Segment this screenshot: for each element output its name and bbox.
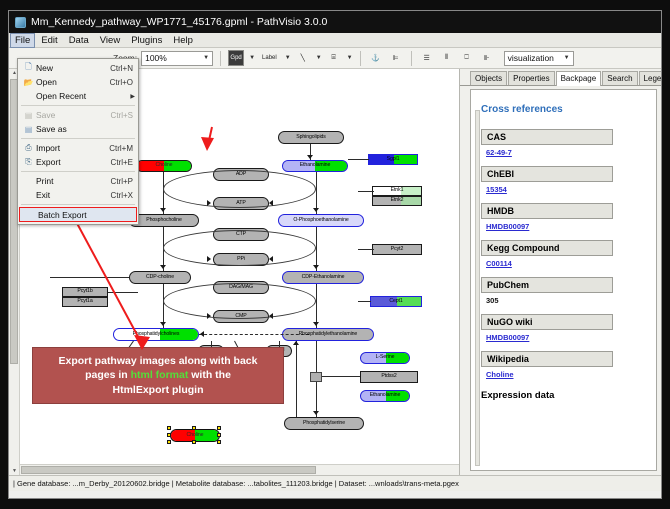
label-dropdown-icon[interactable]: ▼ — [285, 55, 291, 61]
expression-data-title: Expression data — [481, 390, 646, 401]
chevron-down-icon: ▼ — [203, 55, 209, 61]
export-icon: ⎘ — [21, 157, 36, 167]
selection-handle[interactable] — [192, 426, 196, 430]
arrow-head — [307, 155, 313, 159]
menu-item-label: Save — [36, 110, 111, 120]
edge-connector — [108, 292, 138, 293]
selection-handle[interactable] — [192, 440, 196, 444]
node-label: ATP — [236, 201, 245, 206]
menu-item-label: Open Recent — [36, 91, 130, 101]
visualization-combobox[interactable]: visualization ▼ — [504, 51, 574, 66]
arrow-head — [269, 313, 273, 319]
xref-link-wikipedia[interactable]: Choline — [486, 370, 514, 379]
xref-header-wikipedia: Wikipedia — [481, 351, 613, 367]
xref-link-chebi[interactable]: 15354 — [486, 185, 507, 194]
stack-icon[interactable]: ⎕ — [459, 50, 475, 66]
xref-value-kegg-compound: C00114 — [481, 259, 646, 277]
tab-properties[interactable]: Properties — [508, 71, 554, 85]
xref-link-nugo-wiki[interactable]: HMDB00097 — [486, 333, 529, 342]
arrow-head — [200, 331, 204, 337]
node-phosphocholine[interactable]: Phosphocholine — [129, 214, 199, 227]
selection-handle[interactable] — [167, 440, 171, 444]
menu-item-label: Save as — [36, 124, 133, 134]
selection-handle[interactable] — [217, 433, 221, 437]
menu-help[interactable]: Help — [168, 33, 198, 48]
xref-value-pubchem: 305 — [481, 296, 646, 314]
save-disk-icon: ▤ — [21, 111, 36, 120]
menu-item-label: Open — [36, 77, 110, 87]
reaction-anchor — [310, 372, 322, 382]
node-label: Phosphocholine — [146, 218, 182, 223]
arrow-head — [269, 200, 273, 206]
annotation-line-1: Export pathway images along with back — [59, 355, 258, 367]
edge-connector — [358, 249, 374, 250]
status-bar-text: | Gene database: ...m_Derby_20120602.bri… — [13, 479, 459, 488]
menu-view[interactable]: View — [95, 33, 125, 48]
node-label: Pcyt2 — [391, 247, 403, 252]
save-as-icon: ▤ — [21, 125, 36, 134]
side-panel-tabs: Objects Properties Backpage Search Legen… — [460, 69, 661, 86]
menu-item-label: Export — [36, 157, 111, 167]
arrow-head — [313, 265, 319, 269]
edge-connector — [358, 301, 372, 302]
node-label: Choline — [187, 433, 204, 438]
node-ptdss2[interactable]: Ptdss2 — [360, 371, 418, 383]
shape-dropdown-icon[interactable]: ▼ — [347, 55, 353, 61]
pathvisio-icon — [15, 17, 26, 28]
xref-link-kegg-compound[interactable]: C00114 — [486, 259, 512, 268]
menu-item-label: New — [36, 63, 110, 73]
menu-divider-2 — [21, 138, 135, 139]
menu-item-accel: Ctrl+X — [111, 191, 135, 200]
node-label: Ethanolamine — [370, 393, 401, 398]
annotation-line-2a: pages in — [85, 369, 131, 381]
selection-handle[interactable] — [167, 433, 171, 437]
edge-connector — [50, 277, 129, 278]
visualization-value: visualization — [508, 53, 554, 63]
submenu-arrow-icon: ▶ — [130, 93, 135, 100]
node-cept1[interactable]: Cept1 — [370, 296, 422, 307]
hscroll-thumb[interactable] — [21, 466, 316, 474]
chevron-down-icon-2: ▼ — [564, 55, 570, 61]
annotation-highlight: html format — [131, 369, 189, 381]
menu-item-new[interactable]: 🗋 New Ctrl+N — [18, 61, 138, 75]
title-bar: Mm_Kennedy_pathway_WP1771_45176.gpml - P… — [9, 11, 661, 33]
toolbar-divider — [220, 51, 221, 66]
side-panel: Objects Properties Backpage Search Legen… — [460, 69, 661, 475]
toolbar-divider-3 — [411, 51, 412, 66]
node-label: ADP — [236, 172, 246, 177]
node-label: Pcyt1b — [77, 289, 92, 294]
annotation-line-3: HtmlExport plugin — [113, 384, 204, 396]
node-label: L-Serine — [376, 355, 395, 360]
menu-plugins[interactable]: Plugins — [126, 33, 167, 48]
menu-item-label: Import — [36, 143, 109, 153]
window-title: Mm_Kennedy_pathway_WP1771_45176.gpml - P… — [31, 16, 327, 28]
menu-item-import[interactable]: ⎙ Import Ctrl+M — [18, 141, 138, 155]
node-label: Sphingolipids — [296, 135, 326, 140]
xref-header-nugo-wiki: NuGO wiki — [481, 314, 613, 330]
node-pcyt1a[interactable]: Pcyt1a — [62, 297, 108, 307]
xref-value-chebi: 15354 — [481, 185, 646, 203]
xref-link-hmdb[interactable]: HMDB00097 — [486, 222, 529, 231]
node-label: Ethanolamine — [300, 163, 331, 168]
selection-handle[interactable] — [217, 426, 221, 430]
menu-item-open[interactable]: 📂 Open Ctrl+O — [18, 75, 138, 89]
arrow-head — [160, 322, 166, 326]
node-pcyt1b[interactable]: Pcyt1b — [62, 287, 108, 297]
node-label: Phosphatidylserine — [303, 421, 345, 426]
menu-item-save-as[interactable]: ▤ Save as — [18, 122, 138, 136]
node-sgpl1[interactable]: Sgpl1 — [368, 154, 418, 165]
shape-tool-icon[interactable]: ⌸ — [326, 50, 342, 66]
node-l-serine[interactable]: L-Serine — [360, 352, 410, 364]
node-label: Etnk2 — [391, 198, 404, 203]
menu-item-batch-export[interactable]: Batch Export — [19, 207, 137, 222]
xref-value-wikipedia: Choline — [481, 370, 646, 388]
toolbar-divider-2 — [360, 51, 361, 66]
import-icon: ⎙ — [21, 143, 36, 153]
annotation-callout: Export pathway images along with back pa… — [32, 347, 284, 404]
menu-item-accel: Ctrl+S — [111, 111, 135, 120]
menu-item-exit[interactable]: Exit Ctrl+X — [18, 188, 138, 202]
node-label: Phosphatidylcholines — [133, 332, 180, 337]
node-label: CDP-Ethanolamine — [302, 275, 345, 280]
menu-item-label: Exit — [36, 190, 111, 200]
pathvisio-window: Mm_Kennedy_pathway_WP1771_45176.gpml - P… — [8, 10, 662, 499]
node-label: Pcyt1a — [77, 299, 92, 304]
align-top-icon[interactable]: ☰ — [419, 50, 435, 66]
edge-connector — [296, 341, 297, 417]
node-choline[interactable]: Choline — [136, 160, 192, 172]
menu-bar: File Edit Data View Plugins Help — [9, 33, 661, 48]
node-label: O-Phosphoethanolamine — [293, 218, 348, 223]
node-ethanolamine[interactable]: Ethanolamine — [282, 160, 348, 172]
arrow-head — [160, 265, 166, 269]
node-label: Phosphatidylethanolamine — [299, 332, 357, 337]
edge-connector — [320, 376, 360, 377]
arrow-head — [313, 411, 319, 415]
cross-references-title: Cross references — [481, 104, 646, 115]
node-phosphatidylserine[interactable]: Phosphatidylserine — [284, 417, 364, 430]
group-tool-icon[interactable]: ⊫ — [388, 50, 404, 66]
xref-value-hmdb: HMDB00097 — [481, 222, 646, 240]
xref-header-pubchem: PubChem — [481, 277, 613, 293]
xref-value-nugo-wiki: HMDB00097 — [481, 333, 646, 351]
anchor-tool-icon[interactable]: ⚓ — [368, 50, 384, 66]
menu-item-accel: Ctrl+N — [110, 64, 135, 73]
menu-item-label: Print — [36, 176, 111, 186]
arrow-head — [313, 208, 319, 212]
align-columns-icon[interactable]: ⫴ — [439, 50, 455, 66]
selection-handle[interactable] — [217, 440, 221, 444]
node-sphingolipids[interactable]: Sphingolipids — [278, 131, 344, 144]
menu-data[interactable]: Data — [64, 33, 94, 48]
node-label: PPi — [237, 257, 245, 262]
line-dropdown-icon[interactable]: ▼ — [316, 55, 322, 61]
xref-header-chebi: ChEBI — [481, 166, 613, 182]
node-o-phosphoethanolamine[interactable]: O-Phosphoethanolamine — [278, 214, 364, 227]
node-etnk2[interactable]: Etnk2 — [372, 196, 422, 206]
menu-divider-4 — [21, 204, 135, 205]
node-label: Choline — [156, 163, 173, 168]
geneproduct-dropdown-icon[interactable]: ▼ — [249, 55, 255, 61]
node-cdp-ethanolamine[interactable]: CDP-Ethanolamine — [282, 271, 364, 284]
node-phosphatidylcholines[interactable]: Phosphatidylcholines — [113, 328, 199, 341]
open-folder-icon: 📂 — [21, 78, 36, 87]
backpage-content: Cross references CAS 62-49-7 ChEBI 15354… — [470, 89, 657, 471]
xref-header-hmdb: HMDB — [481, 203, 613, 219]
scroll-down-icon[interactable]: ▼ — [12, 468, 17, 474]
menu-divider-3 — [21, 171, 135, 172]
xref-header-kegg-compound: Kegg Compound — [481, 240, 613, 256]
node-etnk1[interactable]: Etnk1 — [372, 186, 422, 196]
arrow-head — [313, 322, 319, 326]
node-ethanolamine-2[interactable]: Ethanolamine — [360, 390, 410, 402]
node-label: CDP-choline — [146, 275, 174, 280]
node-cdp-choline[interactable]: CDP-choline — [129, 271, 191, 284]
menu-item-accel: Ctrl+O — [110, 78, 135, 87]
selection-handle[interactable] — [167, 426, 171, 430]
menu-item-accel: Ctrl+E — [111, 158, 135, 167]
tab-objects[interactable]: Objects — [470, 71, 507, 85]
tab-backpage[interactable]: Backpage — [556, 71, 602, 86]
xref-link-cas[interactable]: 62-49-7 — [486, 148, 512, 157]
zoom-combobox[interactable]: 100% ▼ — [141, 51, 213, 66]
arrow-head — [269, 256, 273, 262]
node-label: Ptdss2 — [381, 374, 396, 379]
tab-search[interactable]: Search — [602, 71, 637, 85]
menu-item-accel: Ctrl+M — [109, 144, 135, 153]
menu-edit[interactable]: Edit — [36, 33, 62, 48]
arrow-head — [207, 200, 211, 206]
menu-divider — [21, 105, 135, 106]
zoom-value: 100% — [145, 53, 167, 63]
canvas-horizontal-scrollbar[interactable] — [20, 464, 459, 475]
menu-item-open-recent[interactable]: Open Recent ▶ — [18, 89, 138, 103]
menu-file[interactable]: File — [10, 33, 35, 48]
new-file-icon: 🗋 — [21, 61, 36, 75]
arrow-head — [207, 313, 211, 319]
node-label: DAG/MAG — [229, 285, 253, 290]
menu-item-print[interactable]: Print Ctrl+P — [18, 174, 138, 188]
file-menu-popup: 🗋 New Ctrl+N 📂 Open Ctrl+O Open Recent ▶… — [17, 58, 139, 225]
annotation-line-2b: with the — [188, 369, 231, 381]
arrow-head — [160, 208, 166, 212]
menu-item-save: ▤ Save Ctrl+S — [18, 108, 138, 122]
status-bar: | Gene database: ...m_Derby_20120602.bri… — [9, 475, 661, 491]
xref-header-cas: CAS — [481, 129, 613, 145]
menu-item-export[interactable]: ⎘ Export Ctrl+E — [18, 155, 138, 169]
geneproduct-tool-button[interactable]: Gpd — [228, 50, 244, 66]
distribute-icon[interactable]: ⊪ — [479, 50, 495, 66]
arrow-head — [207, 256, 211, 262]
node-pcyt2[interactable]: Pcyt2 — [372, 244, 422, 255]
node-label: CMP — [235, 314, 246, 319]
tab-legend[interactable]: Legend — [639, 71, 662, 85]
node-label: Cept1 — [389, 299, 402, 304]
menu-item-label: Batch Export — [38, 210, 133, 220]
edge-connector — [358, 191, 374, 192]
arrow-head — [293, 341, 299, 345]
label-tool-button[interactable]: Label — [259, 50, 280, 66]
node-label: Sgpl1 — [387, 157, 400, 162]
xref-value-cas: 62-49-7 — [481, 148, 646, 166]
edge-methylation — [199, 334, 309, 335]
edge-connector — [348, 159, 370, 160]
node-label: CTP — [236, 232, 246, 237]
node-label: Etnk1 — [391, 188, 404, 193]
menu-item-accel: Ctrl+P — [111, 177, 135, 186]
panel-resize-handle[interactable] — [475, 110, 480, 466]
line-tool-icon[interactable]: ╲ — [295, 50, 311, 66]
